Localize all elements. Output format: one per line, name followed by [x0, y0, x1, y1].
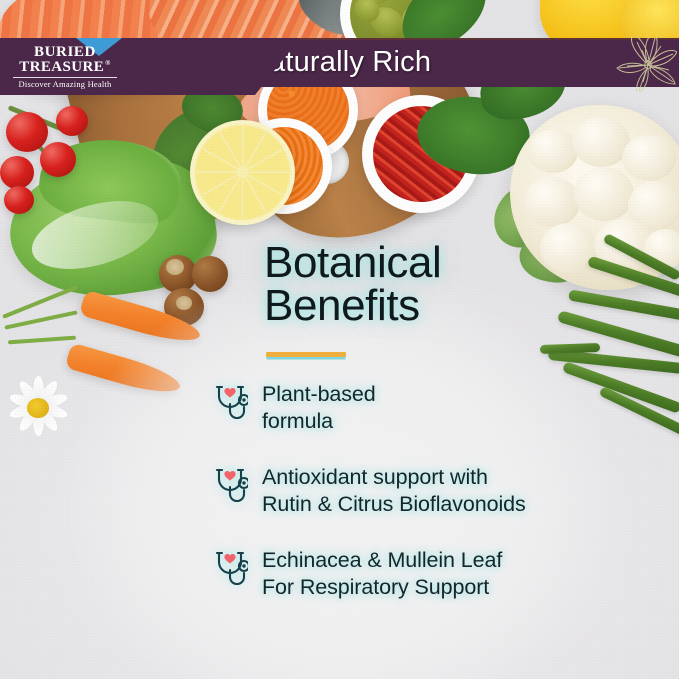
title-divider	[266, 352, 346, 357]
list-item-line-2: Rutin & Citrus Bioflavonoids	[262, 491, 526, 518]
logo-line-1: BURIED	[34, 45, 96, 60]
list-item: Echinacea & Mullein Leaf For Respiratory…	[214, 547, 634, 601]
list-item: Plant-based formula	[214, 381, 634, 435]
page-title-line-1: Botanical	[264, 238, 441, 287]
brand-tagline: Discover Amazing Health	[19, 80, 112, 89]
list-item-line-1: Antioxidant support with	[262, 464, 526, 491]
page-title: Botanical Benefits	[264, 242, 594, 327]
list-item-line-1: Plant-based	[262, 381, 376, 408]
brand-logo[interactable]: BURIED TREASURE® Discover Amazing Health	[6, 44, 124, 90]
product-infographic: Naturally Rich BURIED TREASURE® Discover…	[0, 0, 679, 679]
stethoscope-heart-icon	[214, 550, 248, 590]
list-item-line-2: For Respiratory Support	[262, 574, 502, 601]
list-item-text: Echinacea & Mullein Leaf For Respiratory…	[262, 547, 502, 601]
registered-mark: ®	[105, 59, 111, 67]
page-title-line-2: Benefits	[264, 285, 594, 328]
logo-line-2-text: TREASURE	[19, 59, 104, 75]
stethoscope-heart-icon	[214, 384, 248, 424]
benefits-list: Plant-based formula Antioxidant support …	[214, 381, 634, 630]
list-item-line-2: formula	[262, 408, 376, 435]
list-item-text: Antioxidant support with Rutin & Citrus …	[262, 464, 526, 518]
logo-line-2: TREASURE®	[19, 60, 111, 75]
list-item-text: Plant-based formula	[262, 381, 376, 435]
logo-divider	[13, 77, 117, 78]
list-item-line-1: Echinacea & Mullein Leaf	[262, 547, 502, 574]
list-item: Antioxidant support with Rutin & Citrus …	[214, 464, 634, 518]
stethoscope-heart-icon	[214, 467, 248, 507]
